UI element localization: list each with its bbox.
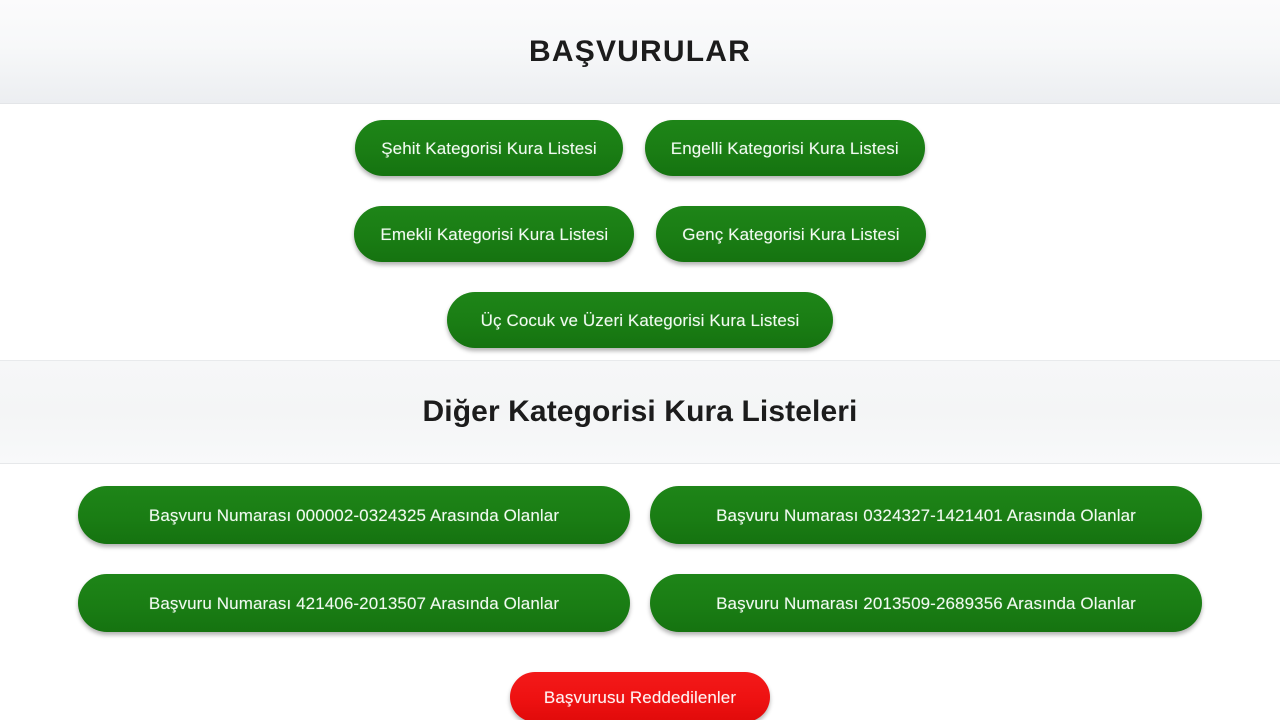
range-button-000002-0324325[interactable]: Başvuru Numarası 000002-0324325 Arasında… <box>78 486 630 544</box>
other-section-title: Diğer Kategorisi Kura Listeleri <box>423 397 858 427</box>
page-title-band: BAŞVURULAR <box>0 0 1280 104</box>
category-button-uc-cocuk-ve-uzeri[interactable]: Üç Cocuk ve Üzeri Kategorisi Kura Listes… <box>447 292 834 348</box>
category-button-genc[interactable]: Genç Kategorisi Kura Listesi <box>656 206 925 262</box>
primary-category-button-group: Şehit Kategorisi Kura Listesi Engelli Ka… <box>0 104 1280 348</box>
application-range-row-1: Başvuru Numarası 000002-0324325 Arasında… <box>78 486 1202 544</box>
range-button-0324327-1421401[interactable]: Başvuru Numarası 0324327-1421401 Arasınd… <box>650 486 1202 544</box>
rejected-applications-row: Başvurusu Reddedilenler <box>510 672 770 720</box>
page-root: BAŞVURULAR Şehit Kategorisi Kura Listesi… <box>0 0 1280 720</box>
range-button-421406-2013507[interactable]: Başvuru Numarası 421406-2013507 Arasında… <box>78 574 630 632</box>
application-range-button-group: Başvuru Numarası 000002-0324325 Arasında… <box>0 464 1280 720</box>
category-button-emekli[interactable]: Emekli Kategorisi Kura Listesi <box>354 206 634 262</box>
primary-category-row-2: Emekli Kategorisi Kura Listesi Genç Kate… <box>354 206 925 262</box>
primary-category-row-3: Üç Cocuk ve Üzeri Kategorisi Kura Listes… <box>447 292 834 348</box>
range-button-2013509-2689356[interactable]: Başvuru Numarası 2013509-2689356 Arasınd… <box>650 574 1202 632</box>
category-button-engelli[interactable]: Engelli Kategorisi Kura Listesi <box>645 120 925 176</box>
primary-category-row-1: Şehit Kategorisi Kura Listesi Engelli Ka… <box>355 120 925 176</box>
page-title: BAŞVURULAR <box>529 37 751 67</box>
application-range-row-2: Başvuru Numarası 421406-2013507 Arasında… <box>78 574 1202 632</box>
other-section-title-band: Diğer Kategorisi Kura Listeleri <box>0 360 1280 464</box>
category-button-sehit[interactable]: Şehit Kategorisi Kura Listesi <box>355 120 623 176</box>
rejected-applications-button[interactable]: Başvurusu Reddedilenler <box>510 672 770 720</box>
